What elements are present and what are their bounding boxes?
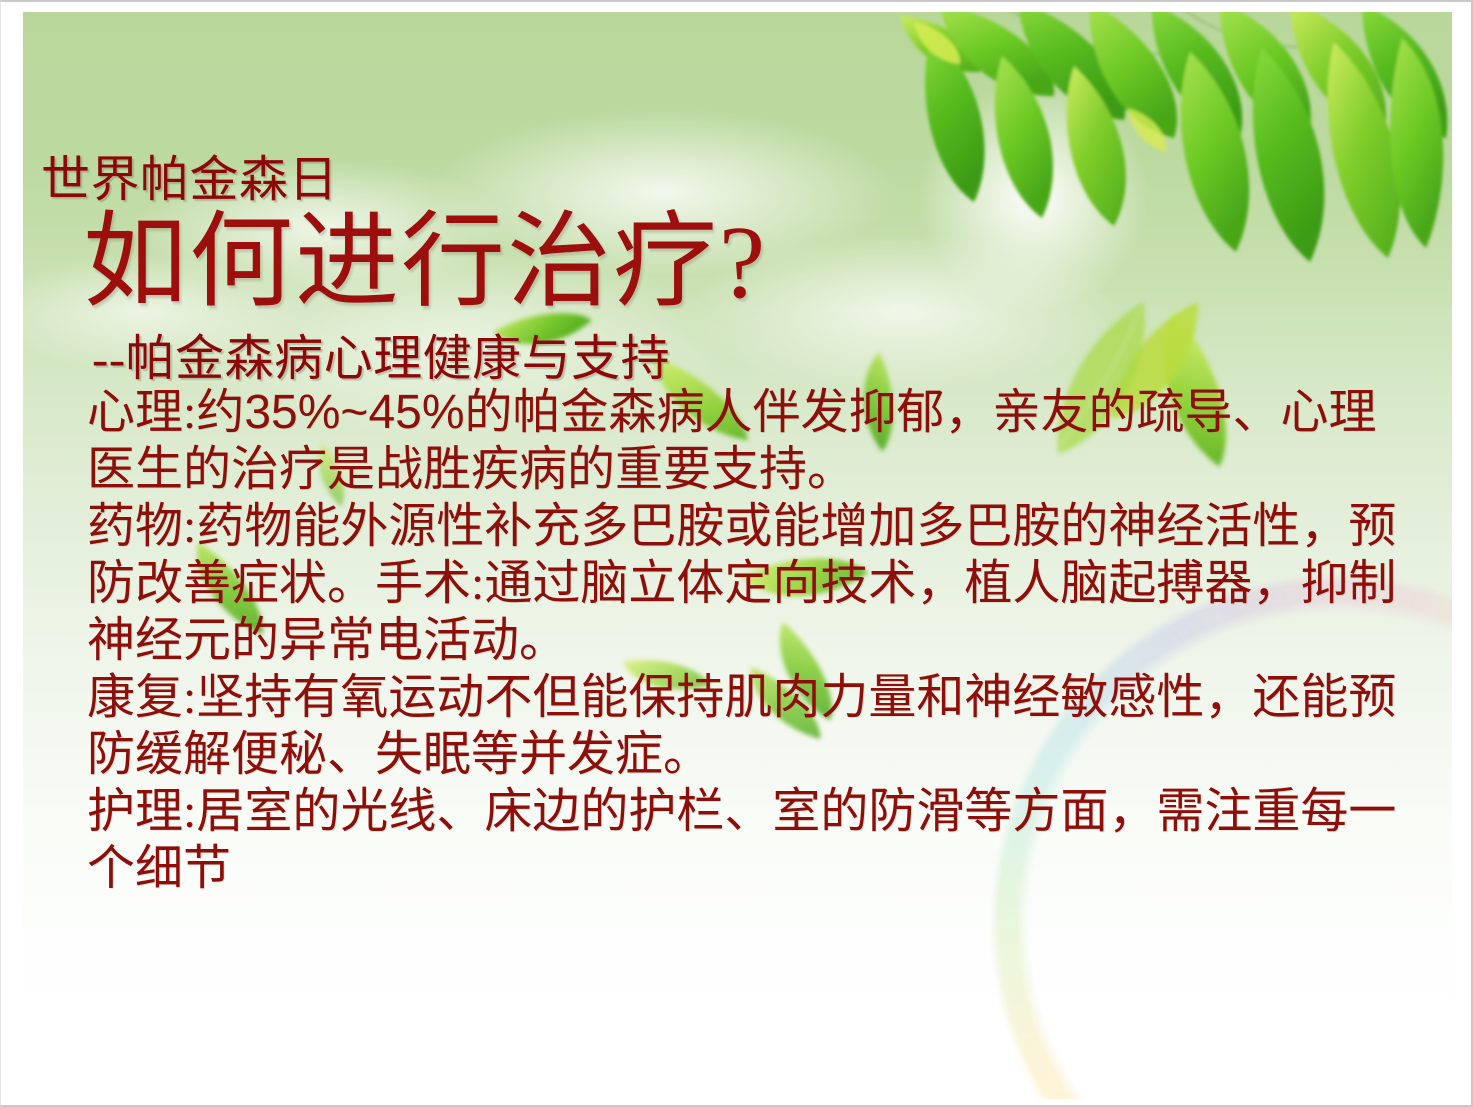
psychology-prefix: 约 xyxy=(196,386,244,439)
slide-title-line-1: 世界帕金森日 xyxy=(41,150,941,210)
presentation-slide: 世界帕金森日 --帕金森病心理健康与支持 如何进行治疗? 心理:约35%~45%… xyxy=(23,12,1452,1099)
psychology-label: 心理: xyxy=(87,386,196,439)
slide-frame: 世界帕金森日 --帕金森病心理健康与支持 如何进行治疗? 心理:约35%~45%… xyxy=(0,0,1473,1107)
psychology-percent-value: 35%~45% xyxy=(244,386,464,439)
paragraph-nursing: 护理:居室的光线、床边的护栏、室的防滑等方面，需注重每一个细节 xyxy=(87,783,1407,897)
paragraph-psychology: 心理:约35%~45%的帕金森病人伴发抑郁，亲友的疏导、心理医生的治疗是战胜疾病… xyxy=(87,384,1407,498)
page-title: 如何进行治疗? xyxy=(83,208,767,317)
slide-title-line-2: --帕金森病心理健康与支持 xyxy=(41,329,941,389)
text-layer: 世界帕金森日 --帕金森病心理健康与支持 如何进行治疗? 心理:约35%~45%… xyxy=(23,12,1452,1099)
paragraph-medicine: 药物:药物能外源性补充多巴胺或能增加多巴胺的神经活性，预防改善症状。手术:通过脑… xyxy=(87,498,1407,669)
body-content: 心理:约35%~45%的帕金森病人伴发抑郁，亲友的疏导、心理医生的治疗是战胜疾病… xyxy=(87,384,1407,897)
paragraph-rehabilitation: 康复:坚持有氧运动不但能保持肌肉力量和神经敏感性，还能预防缓解便秘、失眠等并发症… xyxy=(87,669,1407,783)
